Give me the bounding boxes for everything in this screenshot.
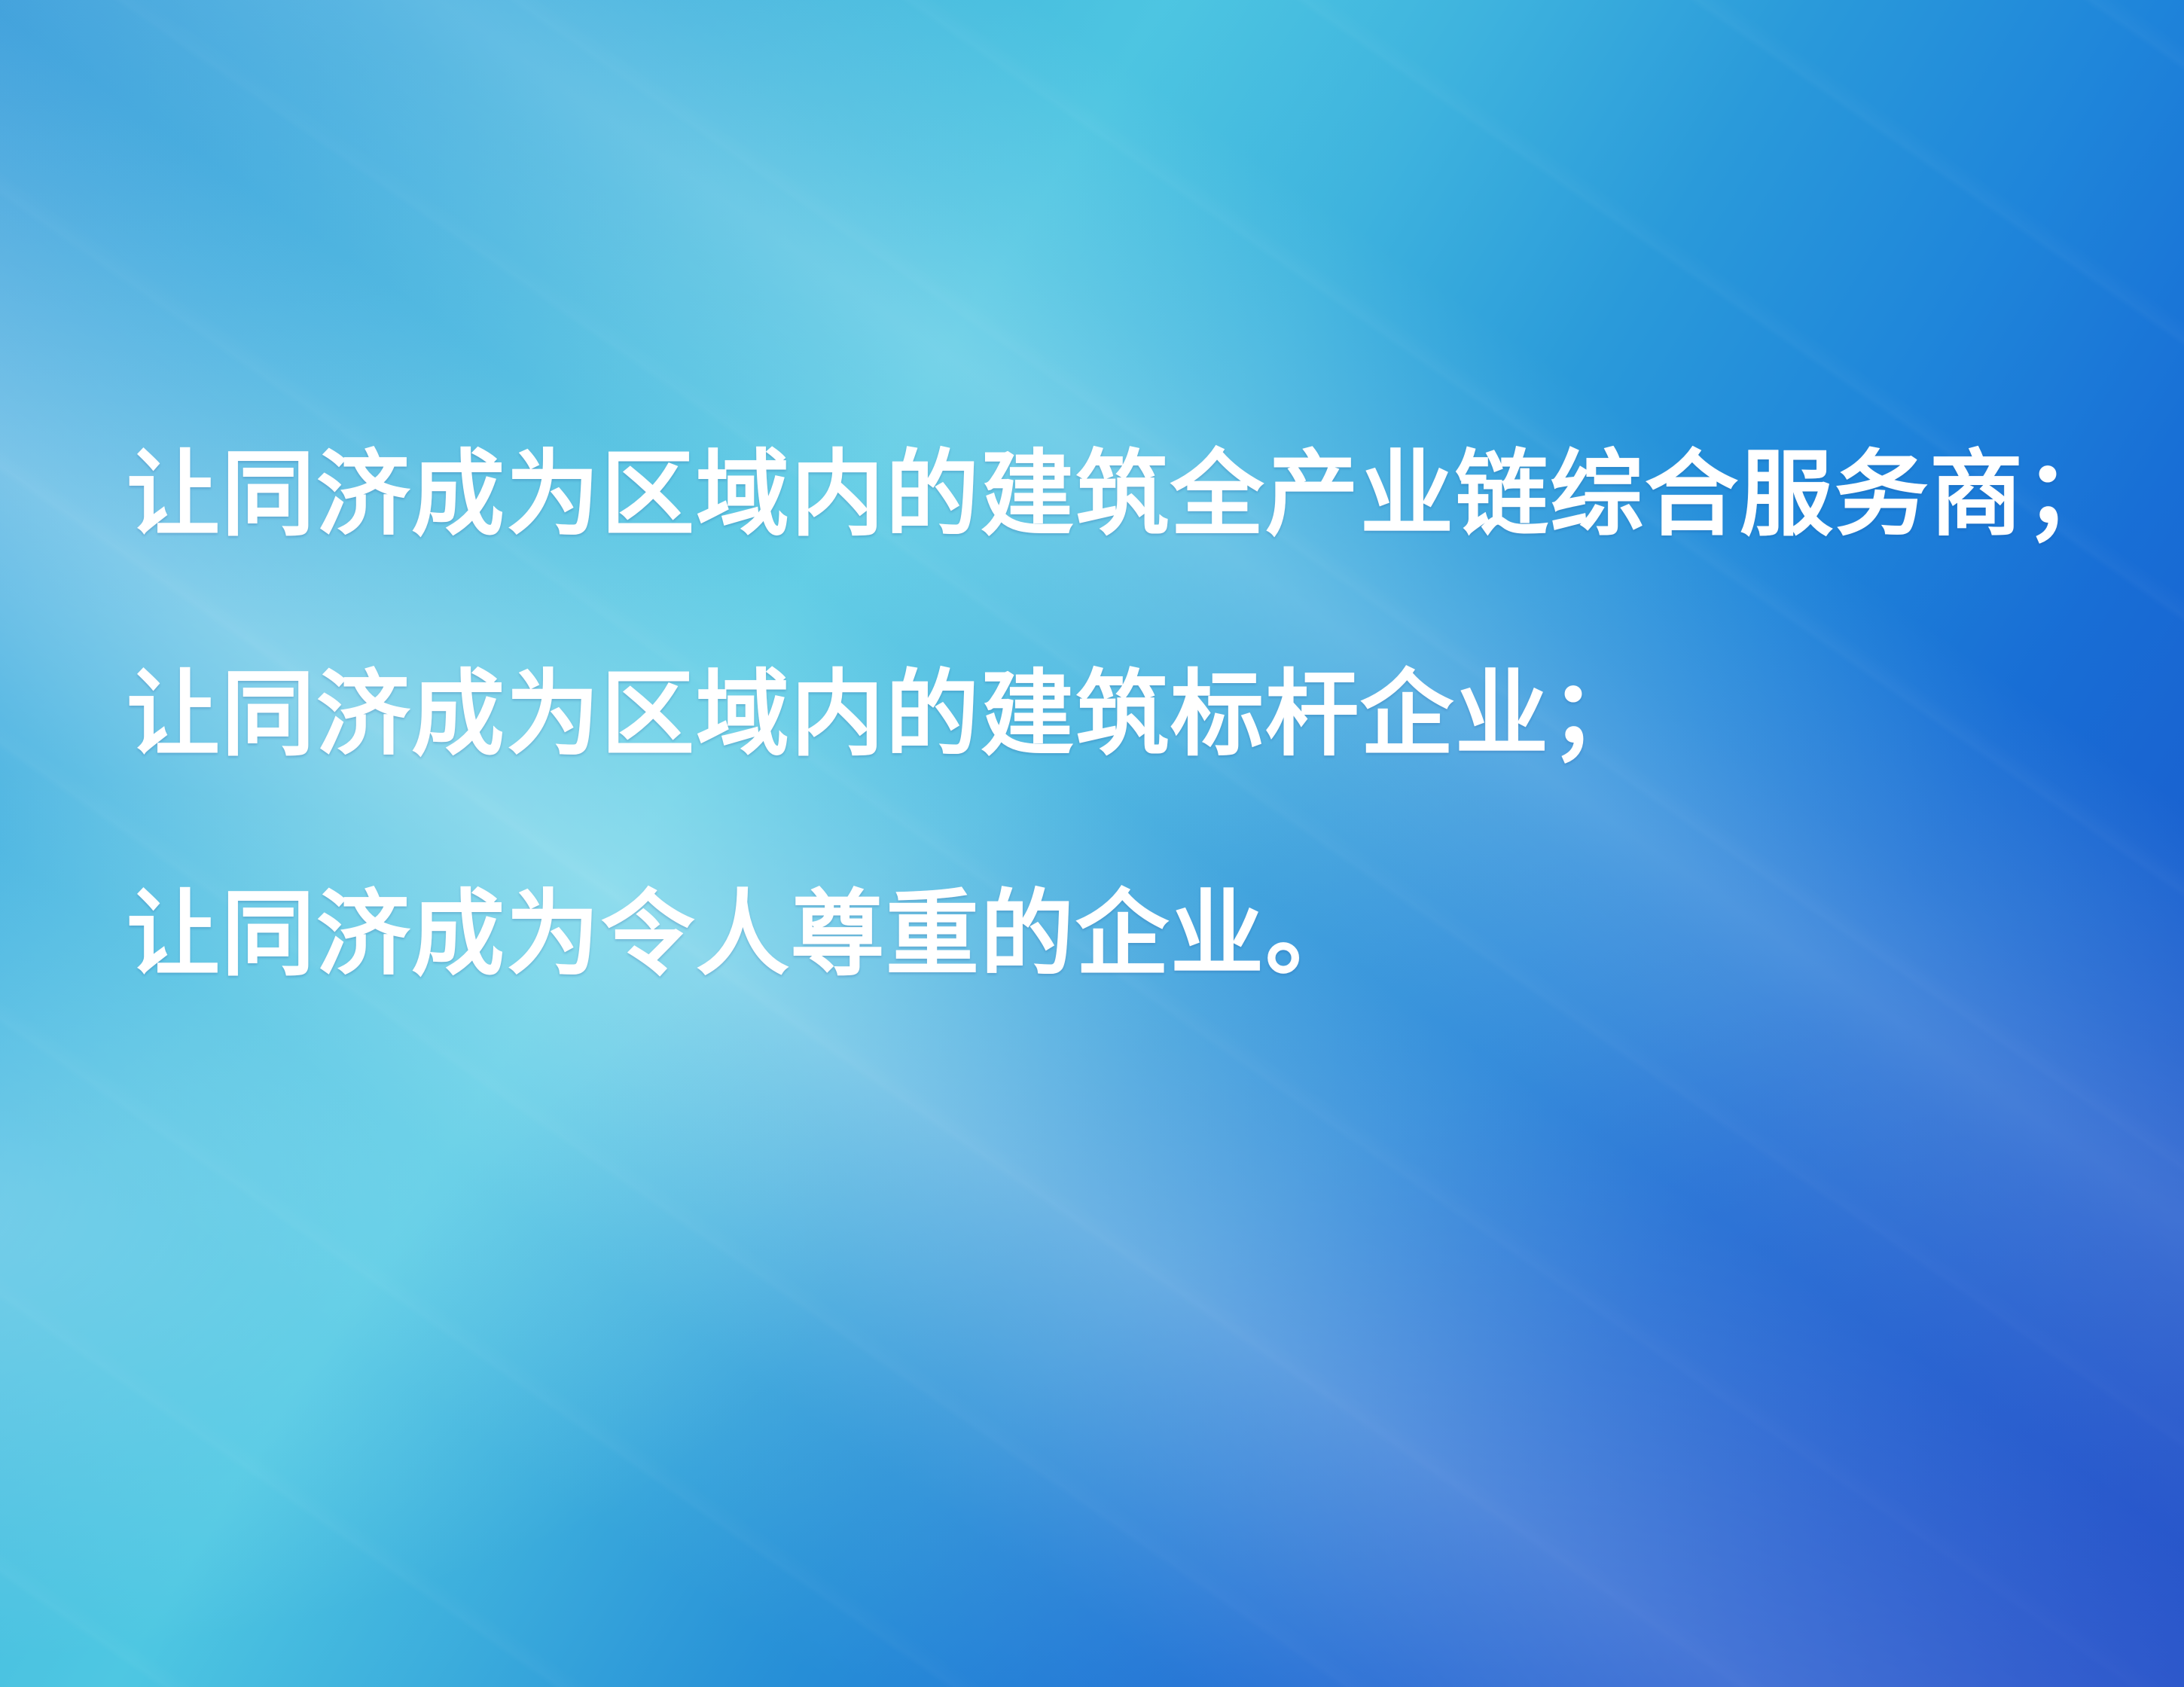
slogan-line-1: 让同济成为区域内的建筑全产业链综合服务商； — [127, 449, 2085, 542]
presentation-slide: 让同济成为区域内的建筑全产业链综合服务商； 让同济成为区域内的建筑标杆企业； 让… — [0, 0, 2184, 1687]
slogan-text-block: 让同济成为区域内的建筑全产业链综合服务商； 让同济成为区域内的建筑标杆企业； 让… — [127, 449, 2085, 982]
slogan-line-3: 让同济成为令人尊重的企业。 — [127, 889, 2085, 982]
slogan-line-2: 让同济成为区域内的建筑标杆企业； — [127, 669, 2085, 762]
